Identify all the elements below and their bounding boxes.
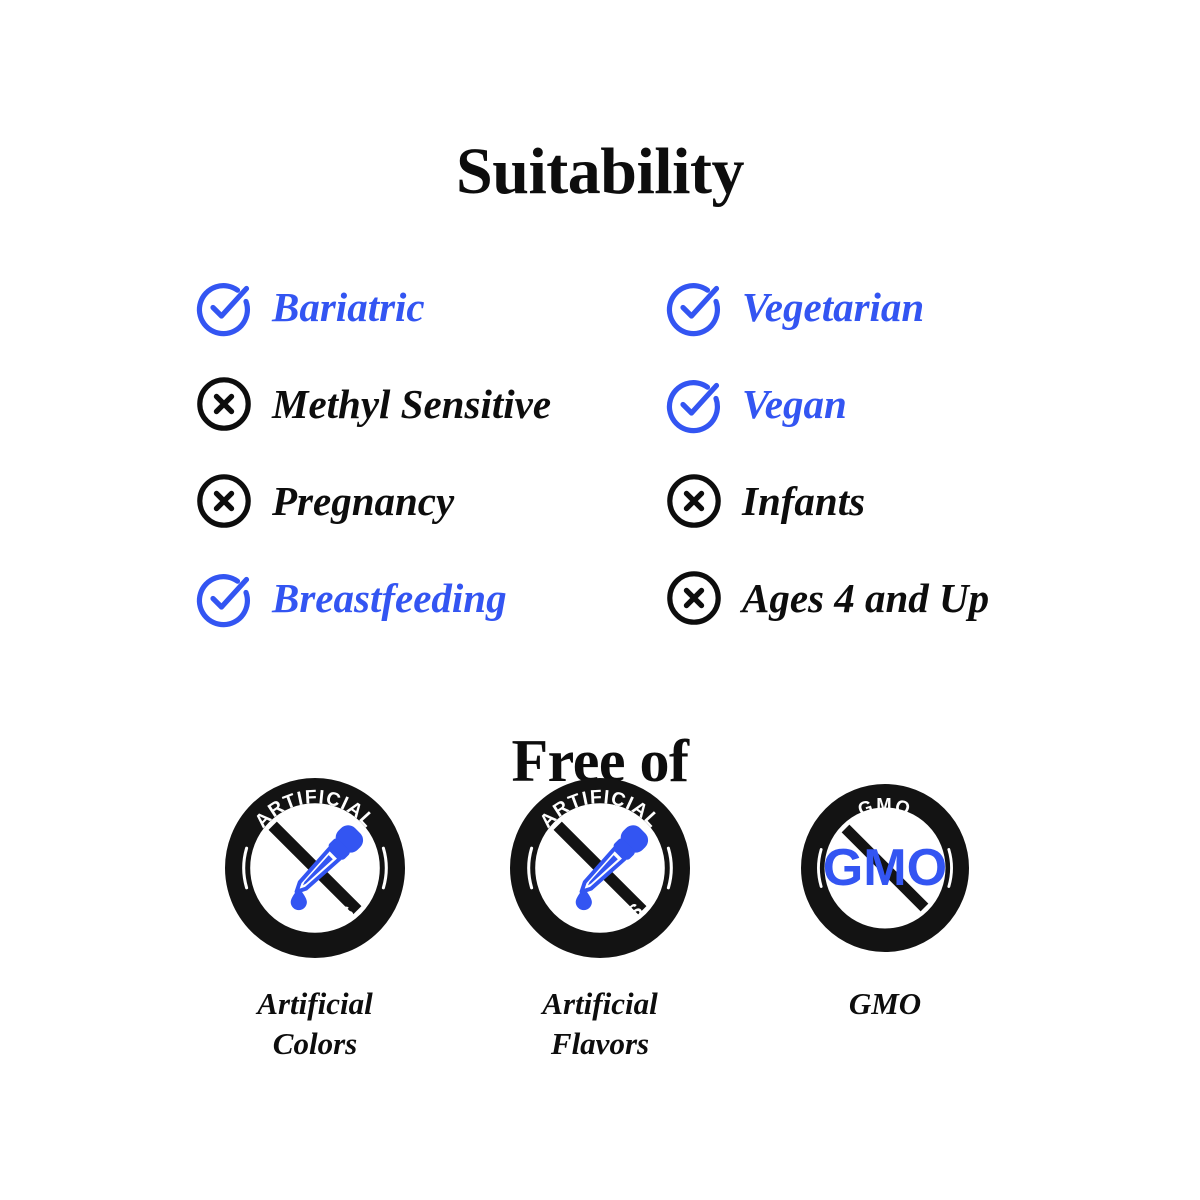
suitability-item-bariatric: Bariatric: [196, 258, 666, 355]
no-gmo-badge-icon: GMO GMO GMO: [801, 784, 969, 952]
no-artificial-colors-badge-icon: ARTIFICIAL COLORS: [225, 778, 405, 958]
suitability-item-label: Breastfeeding: [272, 574, 507, 622]
badge-caption: GMO: [849, 984, 921, 1024]
badge-center-text: GMO: [823, 839, 947, 897]
badge-caption: Artificial Colors: [257, 984, 372, 1064]
x-circle-icon: [666, 570, 722, 626]
badge-ring-bottom-text: GMO: [859, 902, 911, 927]
svg-text:GMO: GMO: [855, 794, 914, 820]
suitability-infographic: Suitability Bariatric Vegetarian: [0, 0, 1200, 1200]
free-of-badge-artificial-colors: ARTIFICIAL COLORS Artificial Colors: [208, 778, 423, 1064]
suitability-item-pregnancy: Pregnancy: [196, 452, 666, 549]
check-circle-icon: [666, 279, 722, 335]
suitability-heading: Suitability: [0, 136, 1200, 208]
free-of-badge-gmo: GMO GMO GMO GMO: [778, 778, 993, 1024]
suitability-item-infants: Infants: [666, 452, 1026, 549]
suitability-item-methyl-sensitive: Methyl Sensitive: [196, 355, 666, 452]
no-artificial-flavors-badge-icon: ARTIFICIAL FLAVORS: [510, 778, 690, 958]
free-of-badge-artificial-flavors: ARTIFICIAL FLAVORS Artificial Flavors: [493, 778, 708, 1064]
suitability-item-label: Pregnancy: [272, 477, 454, 525]
suitability-item-label: Methyl Sensitive: [272, 380, 551, 428]
free-of-badge-row: ARTIFICIAL COLORS Artificial Colors: [0, 778, 1200, 1064]
badge-caption: Artificial Flavors: [542, 984, 657, 1064]
x-circle-icon: [196, 473, 252, 529]
check-circle-icon: [196, 570, 252, 626]
check-circle-icon: [196, 279, 252, 335]
suitability-item-label: Vegetarian: [742, 283, 924, 331]
x-circle-icon: [666, 473, 722, 529]
check-circle-icon: [666, 376, 722, 432]
x-circle-icon: [196, 376, 252, 432]
suitability-list: Bariatric Vegetarian Methyl Sensitive: [196, 258, 1026, 646]
suitability-item-label: Bariatric: [272, 283, 425, 331]
suitability-item-ages-4-and-up: Ages 4 and Up: [666, 549, 1026, 646]
svg-text:GMO: GMO: [859, 902, 911, 927]
suitability-item-label: Ages 4 and Up: [742, 574, 989, 622]
suitability-item-label: Infants: [742, 477, 865, 525]
badge-ring-top-text: GMO: [855, 794, 914, 820]
suitability-item-breastfeeding: Breastfeeding: [196, 549, 666, 646]
suitability-item-label: Vegan: [742, 380, 847, 428]
suitability-item-vegetarian: Vegetarian: [666, 258, 1026, 355]
suitability-item-vegan: Vegan: [666, 355, 1026, 452]
